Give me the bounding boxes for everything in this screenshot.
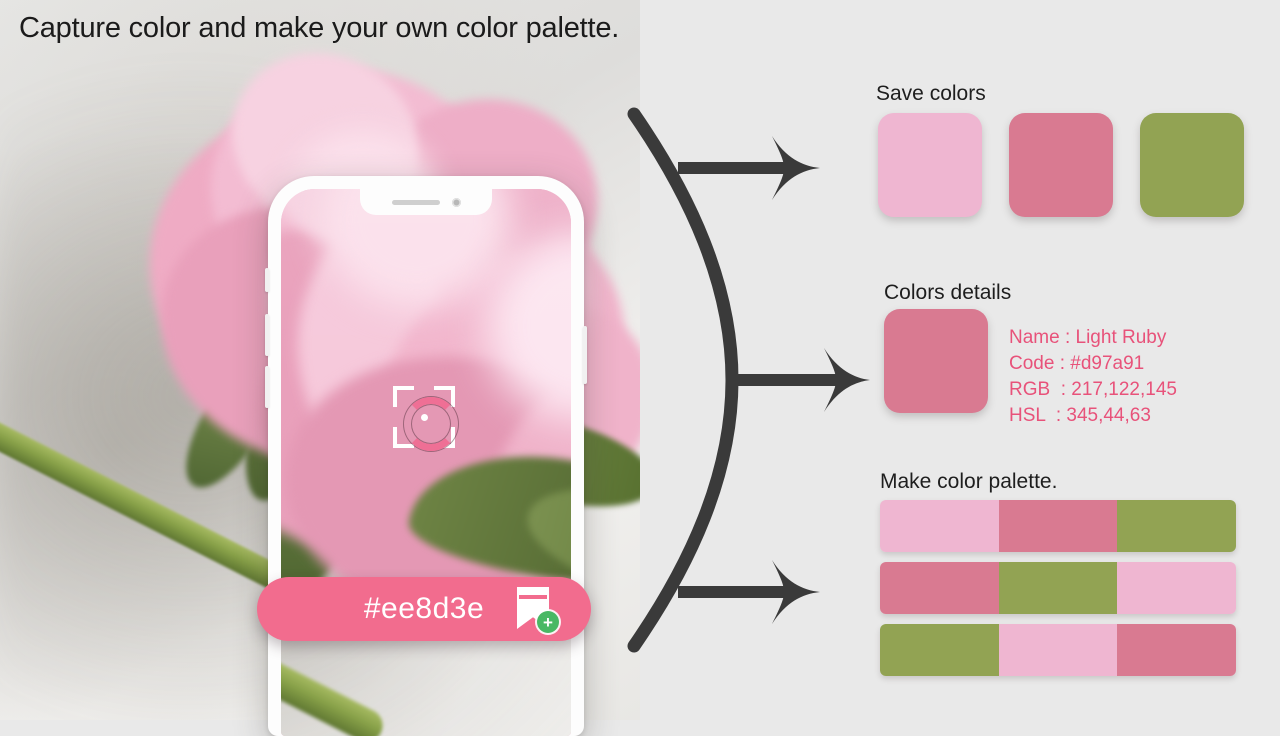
palette-segment xyxy=(880,500,999,552)
phone-mockup xyxy=(268,176,584,736)
front-camera-icon xyxy=(452,198,461,207)
captured-hex-value: #ee8d3e xyxy=(364,592,484,626)
palette-segment xyxy=(1117,562,1236,614)
detail-color-swatch[interactable] xyxy=(884,309,988,413)
palette-segment xyxy=(880,562,999,614)
save-colors-title: Save colors xyxy=(876,82,986,106)
captured-color-pill[interactable]: #ee8d3e + xyxy=(257,577,591,641)
color-detail-list: Name : Light Ruby Code : #d97a91 RGB : 2… xyxy=(1009,325,1177,429)
arrow-branch-bottom xyxy=(678,560,820,624)
reticle-ring-icon xyxy=(404,397,458,451)
detail-row-name: Name : Light Ruby xyxy=(1009,325,1177,351)
palette-row[interactable] xyxy=(880,562,1236,614)
palette-segment xyxy=(999,624,1118,676)
phone-mute-switch[interactable] xyxy=(265,268,269,292)
phone-volume-down-button[interactable] xyxy=(265,366,269,408)
palette-segment xyxy=(1117,500,1236,552)
palette-segment xyxy=(880,624,999,676)
detail-row-rgb: RGB : 217,122,145 xyxy=(1009,377,1177,403)
screen-glare xyxy=(281,189,571,736)
phone-screen[interactable] xyxy=(281,189,571,736)
detail-row-code: Code : #d97a91 xyxy=(1009,351,1177,377)
palette-row[interactable] xyxy=(880,624,1236,676)
page-title: Capture color and make your own color pa… xyxy=(19,12,619,45)
saved-swatch-light-pink[interactable] xyxy=(878,113,982,217)
phone-volume-up-button[interactable] xyxy=(265,314,269,356)
reticle-center-dot-icon xyxy=(421,414,428,421)
detail-row-hsl: HSL : 345,44,63 xyxy=(1009,403,1177,429)
saved-swatch-ruby-pink[interactable] xyxy=(1009,113,1113,217)
arrow-branch-middle xyxy=(730,348,870,412)
palette-segment xyxy=(999,500,1118,552)
phone-power-button[interactable] xyxy=(583,326,587,384)
saved-swatch-olive-green[interactable] xyxy=(1140,113,1244,217)
palette-row[interactable] xyxy=(880,500,1236,552)
arrow-bracket-curve xyxy=(634,114,732,646)
make-palette-title: Make color palette. xyxy=(880,470,1057,494)
flow-arrows xyxy=(620,100,870,660)
colors-details-title: Colors details xyxy=(884,281,1011,305)
plus-badge-icon: + xyxy=(537,611,559,633)
reticle-corner-icon xyxy=(393,386,414,407)
earpiece-speaker-icon xyxy=(392,200,440,205)
color-picker-reticle[interactable] xyxy=(393,386,455,448)
palette-segment xyxy=(1117,624,1236,676)
palette-segment xyxy=(999,562,1118,614)
bookmark-line-icon xyxy=(519,595,547,599)
phone-notch xyxy=(360,189,492,215)
arrow-branch-top xyxy=(678,136,820,200)
bookmark-add-icon[interactable]: + xyxy=(517,587,551,631)
